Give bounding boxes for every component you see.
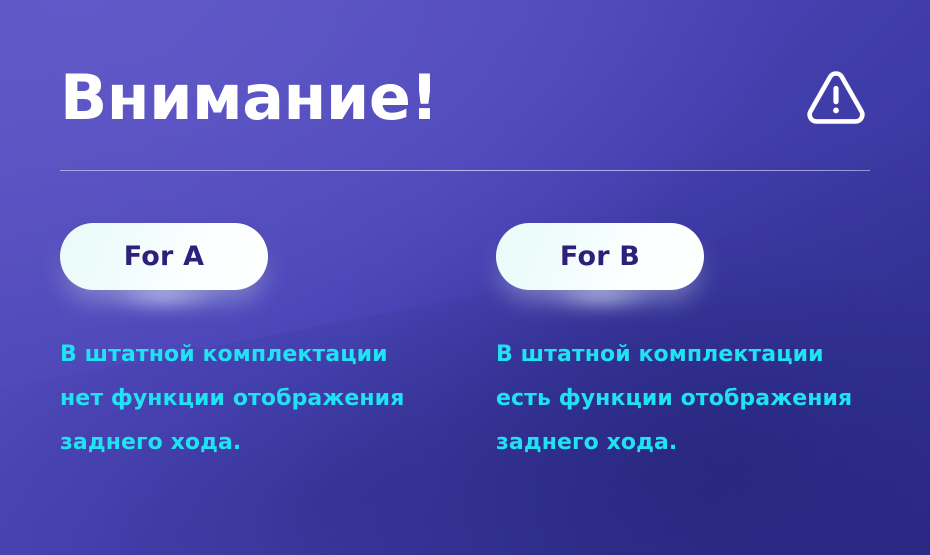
warning-notice-panel: Внимание! For A В штатной комплектации н… xyxy=(0,0,930,555)
option-a-button-wrap: For A xyxy=(60,223,268,290)
option-b-button-wrap: For B xyxy=(496,223,704,290)
header-divider xyxy=(60,170,870,171)
page-title: Внимание! xyxy=(60,67,438,129)
option-a-button-label: For A xyxy=(124,243,205,270)
option-a-button[interactable]: For A xyxy=(60,223,268,290)
warning-triangle-icon xyxy=(802,64,870,132)
panel-header: Внимание! xyxy=(60,52,874,144)
options-columns: For A В штатной комплектации нет функции… xyxy=(0,223,930,465)
option-b-description: В штатной комплектации есть функции отоб… xyxy=(496,290,872,465)
option-b-button[interactable]: For B xyxy=(496,223,704,290)
option-b-button-label: For B xyxy=(560,243,640,270)
